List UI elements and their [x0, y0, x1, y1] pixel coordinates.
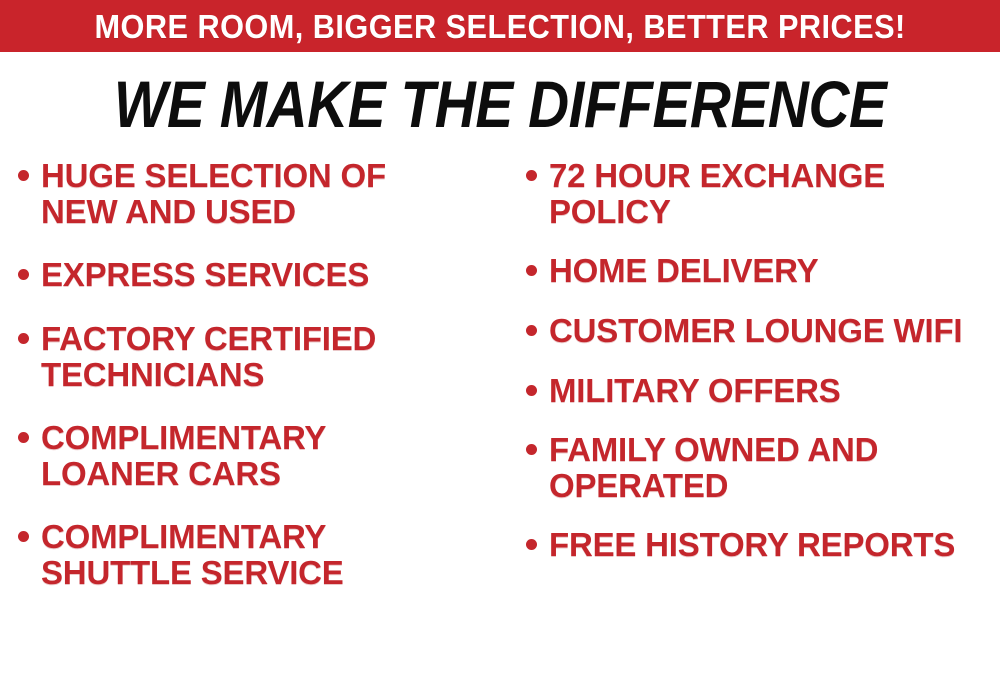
- feature-column-left: HUGE SELECTION OF NEW AND USED EXPRESS S…: [0, 158, 506, 619]
- headline-container: WE MAKE THE DIFFERENCE: [0, 62, 1000, 146]
- page-title: WE MAKE THE DIFFERENCE: [114, 71, 887, 137]
- list-item: FAMILY OWNED AND OPERATED: [526, 432, 1000, 503]
- bullet-dot-icon: [526, 325, 537, 336]
- bullet-dot-icon: [526, 170, 537, 181]
- list-item-label: COMPLIMENTARY SHUTTLE SERVICE: [41, 519, 461, 590]
- bullet-dot-icon: [526, 444, 537, 455]
- list-item-label: HOME DELIVERY: [549, 253, 818, 289]
- bullet-dot-icon: [526, 539, 537, 550]
- list-item: HUGE SELECTION OF NEW AND USED: [18, 158, 506, 229]
- bullet-dot-icon: [18, 531, 29, 542]
- list-item: HOME DELIVERY: [526, 253, 1000, 289]
- list-item: 72 HOUR EXCHANGE POLICY: [526, 158, 1000, 229]
- bullet-dot-icon: [18, 170, 29, 181]
- promo-banner: MORE ROOM, BIGGER SELECTION, BETTER PRIC…: [0, 0, 1000, 52]
- promo-banner-text: MORE ROOM, BIGGER SELECTION, BETTER PRIC…: [94, 10, 905, 43]
- feature-columns: HUGE SELECTION OF NEW AND USED EXPRESS S…: [0, 158, 1000, 694]
- bullet-dot-icon: [526, 265, 537, 276]
- bullet-dot-icon: [18, 333, 29, 344]
- list-item-label: FAMILY OWNED AND OPERATED: [549, 432, 969, 503]
- list-item: CUSTOMER LOUNGE WIFI: [526, 313, 1000, 349]
- list-item-label: FREE HISTORY REPORTS: [549, 527, 955, 563]
- list-item: EXPRESS SERVICES: [18, 257, 506, 293]
- list-item-label: EXPRESS SERVICES: [41, 257, 369, 293]
- list-item-label: 72 HOUR EXCHANGE POLICY: [549, 158, 969, 229]
- list-item-label: FACTORY CERTIFIED TECHNICIANS: [41, 321, 461, 392]
- list-item: COMPLIMENTARY LOANER CARS: [18, 420, 506, 491]
- list-item-label: HUGE SELECTION OF NEW AND USED: [41, 158, 461, 229]
- list-item-label: MILITARY OFFERS: [549, 373, 841, 409]
- list-item: FREE HISTORY REPORTS: [526, 527, 1000, 563]
- bullet-dot-icon: [18, 269, 29, 280]
- list-item-label: CUSTOMER LOUNGE WIFI: [549, 313, 962, 349]
- bullet-dot-icon: [526, 385, 537, 396]
- list-item: MILITARY OFFERS: [526, 373, 1000, 409]
- list-item: FACTORY CERTIFIED TECHNICIANS: [18, 321, 506, 392]
- bullet-dot-icon: [18, 432, 29, 443]
- feature-column-right: 72 HOUR EXCHANGE POLICY HOME DELIVERY CU…: [506, 158, 1000, 587]
- list-item: COMPLIMENTARY SHUTTLE SERVICE: [18, 519, 506, 590]
- list-item-label: COMPLIMENTARY LOANER CARS: [41, 420, 461, 491]
